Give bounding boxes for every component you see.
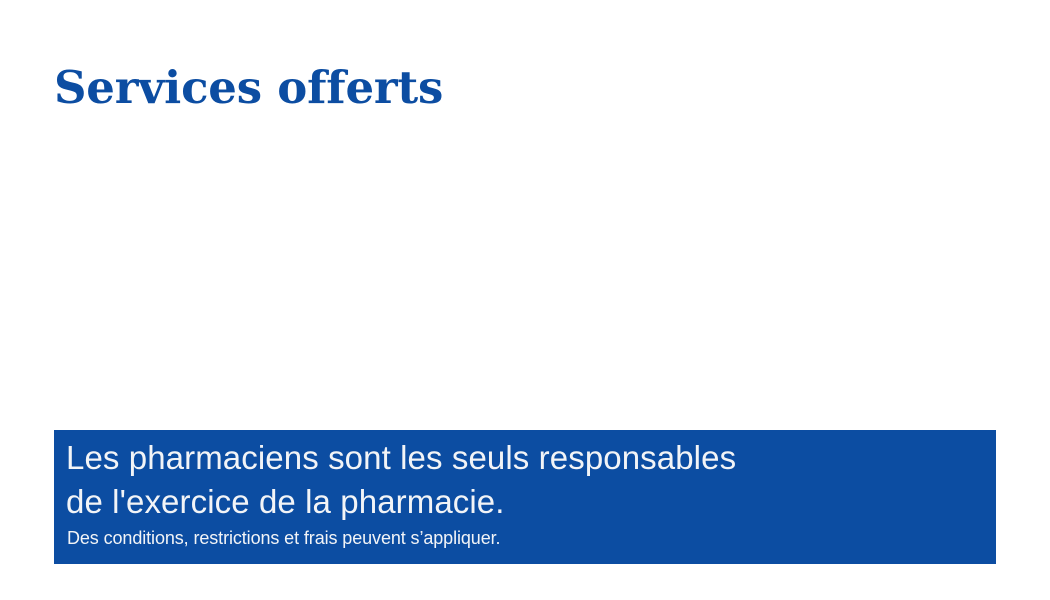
page-title: Services offerts: [54, 62, 443, 114]
callout-heading: Les pharmaciens sont les seuls responsab…: [66, 436, 980, 524]
slide: Services offerts Les pharmaciens sont le…: [0, 0, 1050, 600]
callout-heading-line-1: Les pharmaciens sont les seuls responsab…: [66, 436, 980, 480]
callout-heading-line-2: de l'exercice de la pharmacie.: [66, 480, 980, 524]
slide-content-area: [54, 130, 996, 420]
callout-subtext: Des conditions, restrictions et frais pe…: [67, 526, 980, 550]
callout-banner: Les pharmaciens sont les seuls responsab…: [54, 430, 996, 564]
